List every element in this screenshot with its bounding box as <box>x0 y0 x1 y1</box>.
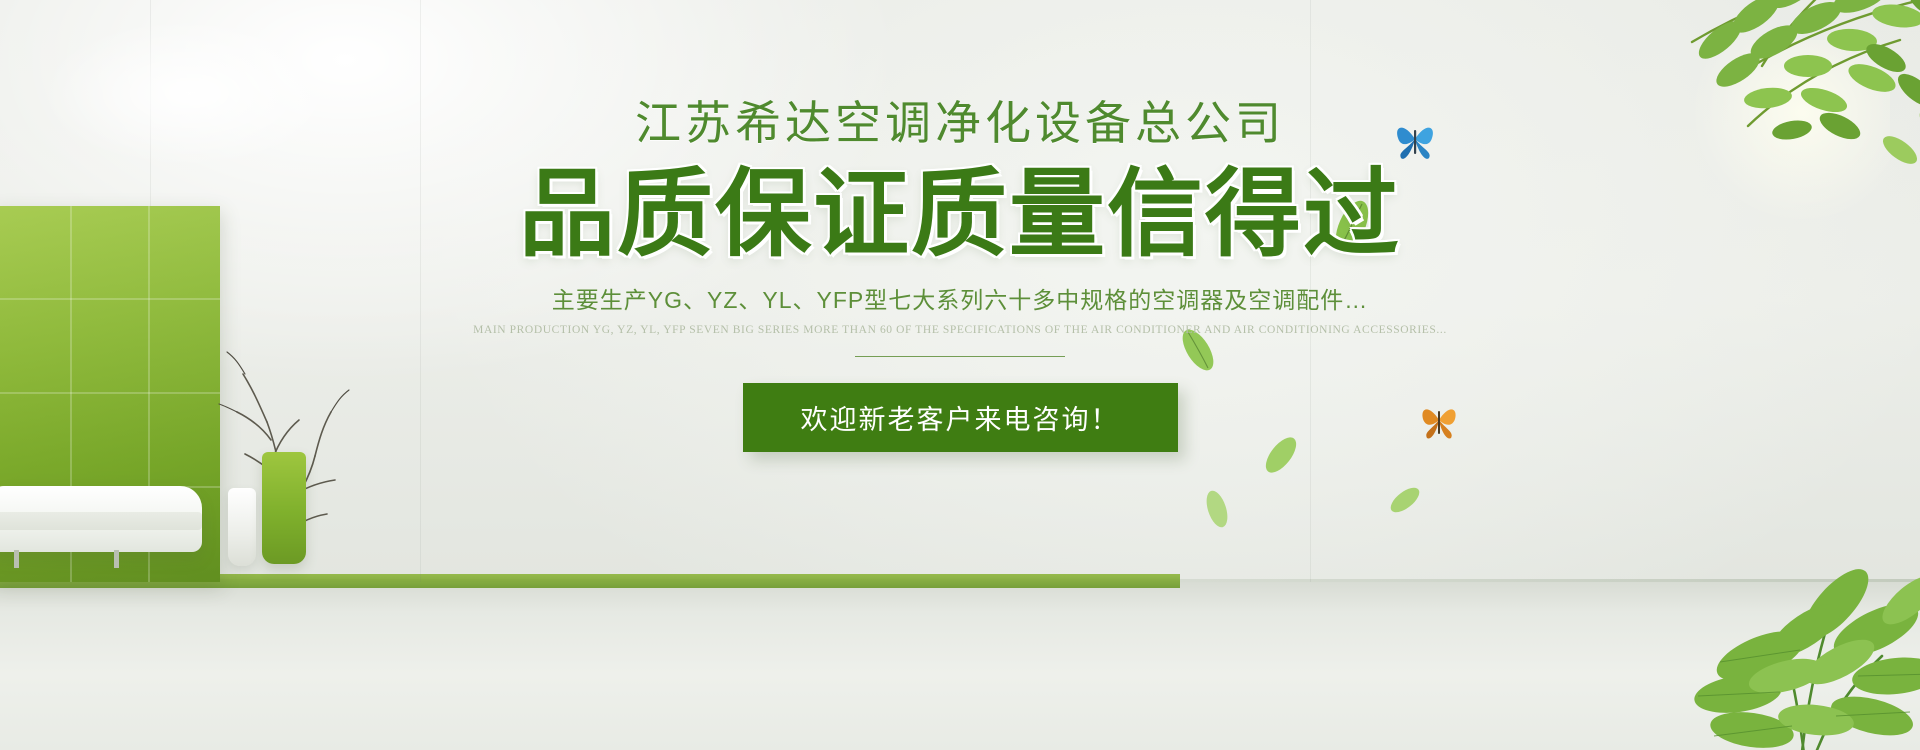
banner-content: 江苏希达空调净化设备总公司 品质保证质量信得过 主要生产YG、YZ、YL、YFP… <box>0 96 1920 452</box>
sofa-leg <box>114 550 119 568</box>
subtitle: 主要生产YG、YZ、YL、YFP型七大系列六十多中规格的空调器及空调配件… <box>0 285 1920 316</box>
contact-cta-button[interactable]: 欢迎新老客户来电咨询！ <box>743 383 1178 452</box>
white-vase <box>228 488 256 566</box>
headline: 品质保证质量信得过 <box>0 161 1920 269</box>
falling-leaf <box>1390 480 1420 520</box>
company-name: 江苏希达空调净化设备总公司 <box>0 96 1920 151</box>
white-sofa <box>0 486 202 552</box>
falling-leaf <box>1200 486 1234 532</box>
hero-banner: 江苏希达空调净化设备总公司 品质保证质量信得过 主要生产YG、YZ、YL、YFP… <box>0 0 1920 750</box>
potted-plant <box>1610 480 1920 750</box>
green-vase <box>262 452 306 564</box>
sofa-leg <box>14 550 19 568</box>
divider <box>855 356 1065 357</box>
subtitle-english: MAIN PRODUCTION YG, YZ, YL, YFP SEVEN BI… <box>0 323 1920 338</box>
sofa-seat <box>0 512 202 530</box>
